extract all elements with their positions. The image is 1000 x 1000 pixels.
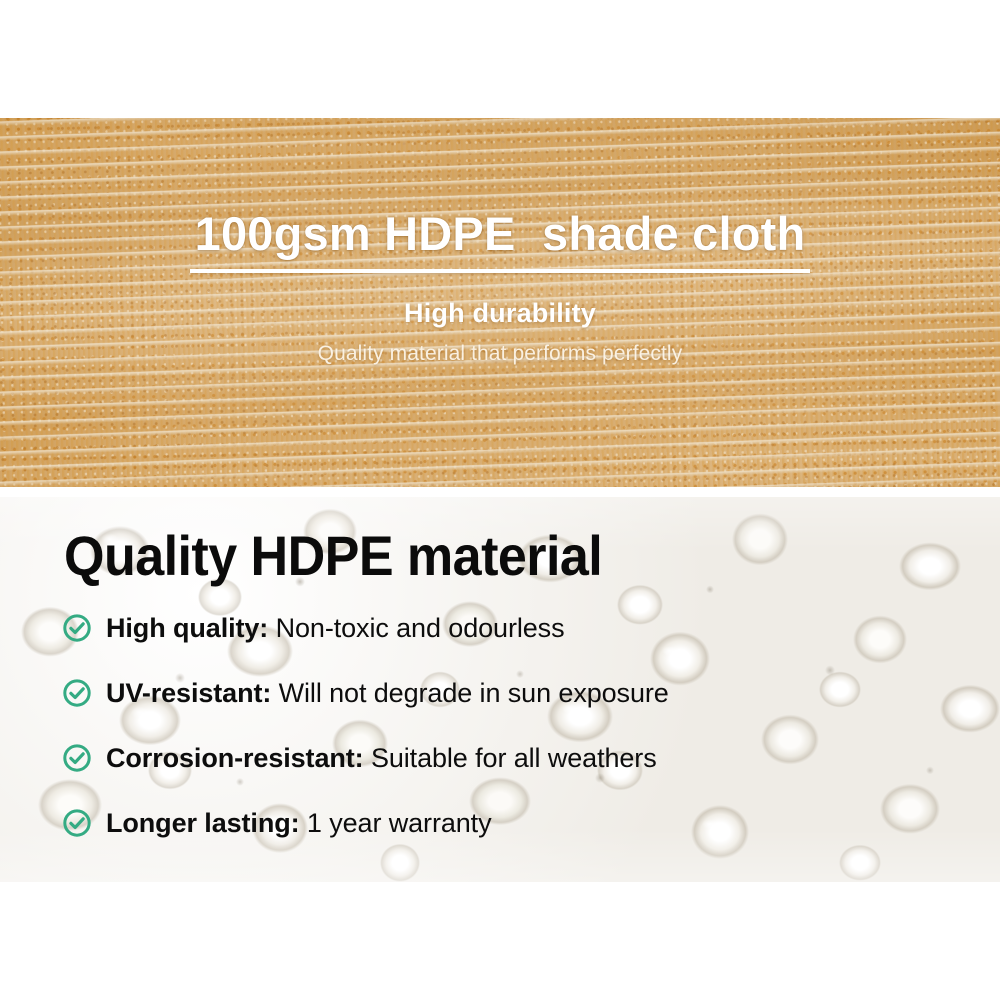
feature-label: UV-resistant: [106,678,271,708]
feature-desc: Will not degrade in sun exposure [271,678,668,708]
hdpe-material-copy: Quality HDPE material High quality: Non-… [0,497,1000,882]
heading-quality-hdpe-material: Quality HDPE material [64,523,602,588]
feature-label: High quality: [106,613,268,643]
list-item: High quality: Non-toxic and odourless [62,609,962,674]
feature-list: High quality: Non-toxic and odourless UV… [62,609,962,869]
feature-desc: Non-toxic and odourless [268,613,564,643]
check-circle-icon [62,743,92,773]
feature-desc: Suitable for all weathers [364,743,657,773]
list-item: Longer lasting: 1 year warranty [62,804,962,869]
feature-text: UV-resistant: Will not degrade in sun ex… [106,674,669,712]
feature-text: Longer lasting: 1 year warranty [106,804,491,842]
check-circle-icon [62,678,92,708]
product-feature-image: 100gsm HDPE shade cloth High durability … [0,0,1000,1000]
headline-divider [190,269,810,273]
check-circle-icon [62,808,92,838]
feature-text: Corrosion-resistant: Suitable for all we… [106,739,657,777]
list-item: UV-resistant: Will not degrade in sun ex… [62,674,962,739]
shade-cloth-copy: 100gsm HDPE shade cloth High durability … [0,118,1000,487]
feature-text: High quality: Non-toxic and odourless [106,609,564,647]
list-item: Corrosion-resistant: Suitable for all we… [62,739,962,804]
feature-label: Corrosion-resistant: [106,743,364,773]
feature-label: Longer lasting: [106,808,300,838]
tagline-quality-material: Quality material that performs perfectly [0,342,1000,366]
check-circle-icon [62,613,92,643]
feature-desc: 1 year warranty [300,808,492,838]
headline-shade-cloth: 100gsm HDPE shade cloth [0,206,1000,261]
subtitle-high-durability: High durability [0,298,1000,329]
